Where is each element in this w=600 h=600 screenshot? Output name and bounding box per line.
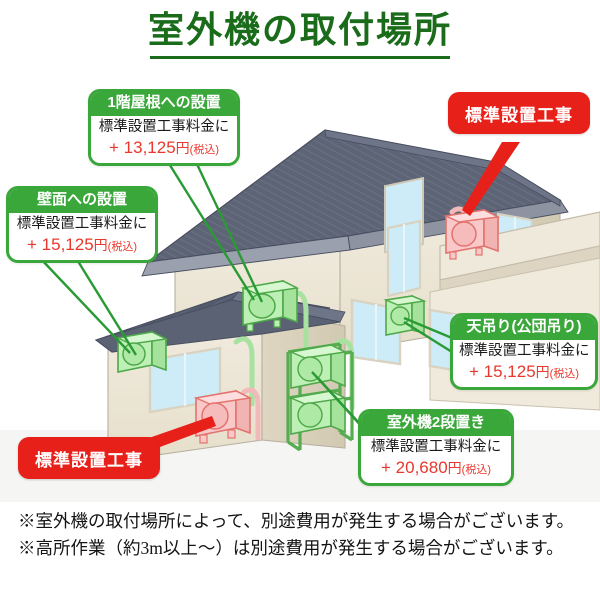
callout-wall-yen: 円 — [94, 237, 108, 253]
callout-roof-1f-tax: (税込) — [190, 144, 219, 156]
callout-two-tier-line1: 標準設置工事料金に — [367, 439, 505, 456]
badge-standard-install-bottom-label: 標準設置工事 — [35, 446, 143, 471]
callout-two-tier-plus: + — [381, 458, 391, 477]
callout-two-tier-price: + 20,680円(税込) — [367, 457, 505, 478]
callout-ceiling-hang[interactable]: 天吊り(公団吊り) 標準設置工事料金に + 15,125円(税込) — [450, 313, 598, 390]
callout-wall-amount: 15,125 — [42, 235, 94, 254]
callout-wall[interactable]: 壁面への設置 標準設置工事料金に + 15,125円(税込) — [6, 186, 158, 263]
callout-roof-1f-line1: 標準設置工事料金に — [97, 119, 231, 136]
callout-two-tier-amount: 20,680 — [396, 458, 448, 477]
callout-two-tier-yen: 円 — [448, 460, 462, 476]
callout-roof-1f-amount: 13,125 — [124, 138, 176, 157]
footer-notes: ※室外機の取付場所によって、別途費用が発生する場合がございます。 ※高所作業（約… — [18, 508, 584, 562]
callout-roof-1f-plus: + — [109, 138, 119, 157]
callout-wall-plus: + — [27, 235, 37, 254]
badge-standard-install-top-label: 標準設置工事 — [465, 101, 573, 126]
footer-note-2: ※高所作業（約3m以上～）は別途費用が発生する場合がございます。 — [18, 535, 584, 562]
callout-roof-1f[interactable]: 1階屋根への設置 標準設置工事料金に + 13,125円(税込) — [88, 89, 240, 166]
badge-standard-install-top[interactable]: 標準設置工事 — [448, 92, 590, 134]
callout-two-tier-tax: (税込) — [462, 464, 491, 476]
callout-wall-line1: 標準設置工事料金に — [15, 216, 149, 233]
callout-ceiling-hang-price: + 15,125円(税込) — [459, 361, 589, 382]
badge-standard-install-bottom[interactable]: 標準設置工事 — [18, 437, 160, 479]
ac-unit-ceiling-hung — [386, 296, 424, 335]
footer-note-1: ※室外機の取付場所によって、別途費用が発生する場合がございます。 — [18, 508, 584, 535]
callout-two-tier[interactable]: 室外機2段置き 標準設置工事料金に + 20,680円(税込) — [358, 409, 514, 486]
callout-wall-tax: (税込) — [108, 241, 137, 253]
callout-ceiling-hang-plus: + — [469, 362, 479, 381]
callout-two-tier-header: 室外機2段置き — [361, 412, 511, 436]
callout-roof-1f-header: 1階屋根への設置 — [91, 92, 237, 116]
callout-ceiling-hang-tax: (税込) — [550, 368, 579, 380]
callout-wall-price: + 15,125円(税込) — [15, 234, 149, 255]
callout-ceiling-hang-line1: 標準設置工事料金に — [459, 343, 589, 360]
callout-ceiling-hang-header: 天吊り(公団吊り) — [453, 316, 595, 340]
callout-wall-header: 壁面への設置 — [9, 189, 155, 213]
callout-roof-1f-yen: 円 — [176, 140, 190, 156]
callout-ceiling-hang-amount: 15,125 — [484, 362, 536, 381]
infographic-canvas: 室外機の取付場所 — [0, 0, 600, 600]
callout-roof-1f-price: + 13,125円(税込) — [97, 137, 231, 158]
callout-ceiling-hang-yen: 円 — [536, 364, 550, 380]
